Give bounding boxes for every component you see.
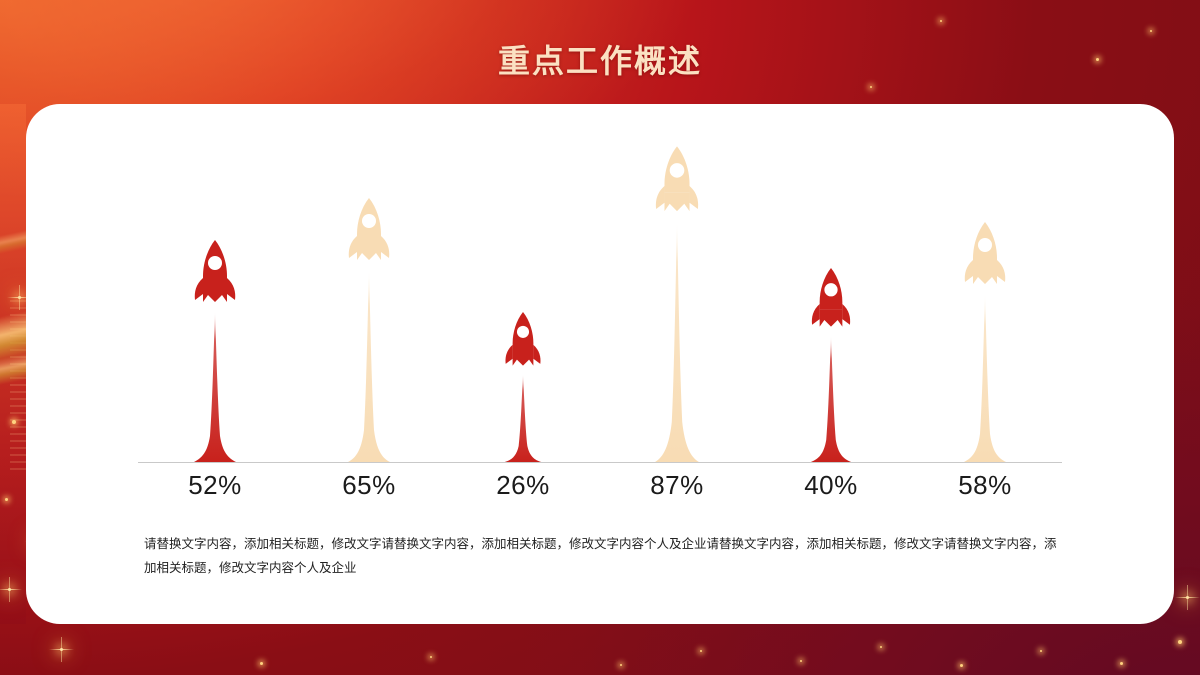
chart-value-label: 87% <box>600 470 754 501</box>
rocket-trail-icon <box>346 270 392 462</box>
body-paragraph: 请替换文字内容，添加相关标题，修改文字请替换文字内容，添加相关标题，修改文字内容… <box>144 532 1064 580</box>
chart-column[interactable]: 40% <box>754 104 908 504</box>
sparkle-icon <box>870 86 872 88</box>
sparkle-icon <box>800 660 802 662</box>
sparkle-icon <box>60 648 63 651</box>
sparkle-icon <box>430 656 432 658</box>
chart-value-label: 58% <box>908 470 1062 501</box>
rocket-icon <box>962 222 1008 462</box>
rocket-bar-chart: 52% <box>26 104 1174 504</box>
rocket-icon <box>192 240 238 462</box>
page-title: 重点工作概述 <box>0 36 1200 82</box>
sparkle-icon <box>12 420 16 424</box>
chart-value-label: 52% <box>138 470 292 501</box>
sparkle-icon <box>1186 596 1189 599</box>
sparkle-icon <box>18 296 21 299</box>
chart-value-label: 26% <box>446 470 600 501</box>
chart-column[interactable]: 26% <box>446 104 600 504</box>
rocket-trail-icon <box>809 336 853 462</box>
chart-column[interactable]: 52% <box>138 104 292 504</box>
sparkle-icon <box>940 20 942 22</box>
rocket-icon <box>809 268 853 462</box>
rocket-trail-icon <box>503 374 543 462</box>
rocket-trail-icon <box>653 222 701 462</box>
sparkle-icon <box>880 646 882 648</box>
rocket-icon <box>503 312 543 462</box>
rocket-trail-icon <box>192 312 238 462</box>
rocket-icon <box>653 146 701 462</box>
chart-column[interactable]: 87% <box>600 104 754 504</box>
rocket-body-icon <box>809 268 853 338</box>
sparkle-icon <box>1040 650 1042 652</box>
sparkle-icon <box>8 588 11 591</box>
chart-column[interactable]: 58% <box>908 104 1062 504</box>
rocket-body-icon <box>962 222 1008 296</box>
chart-column[interactable]: 65% <box>292 104 446 504</box>
sparkle-icon <box>1178 640 1182 644</box>
rocket-trail-icon <box>962 294 1008 462</box>
sparkle-icon <box>5 498 8 501</box>
content-card: 52% <box>26 104 1174 624</box>
chart-value-label: 65% <box>292 470 446 501</box>
rocket-body-icon <box>346 198 392 272</box>
chart-columns: 52% <box>138 104 1062 504</box>
sparkle-icon <box>1150 30 1152 32</box>
slide-root: 重点工作概述 <box>0 0 1200 675</box>
rocket-icon <box>346 198 392 462</box>
rocket-body-icon <box>653 146 701 224</box>
chart-value-label: 40% <box>754 470 908 501</box>
rocket-body-icon <box>503 312 543 376</box>
sparkle-icon <box>1120 662 1123 665</box>
rocket-body-icon <box>192 240 238 314</box>
sparkle-icon <box>960 664 963 667</box>
sparkle-icon <box>620 664 622 666</box>
sparkle-icon <box>260 662 263 665</box>
sparkle-icon <box>700 650 702 652</box>
